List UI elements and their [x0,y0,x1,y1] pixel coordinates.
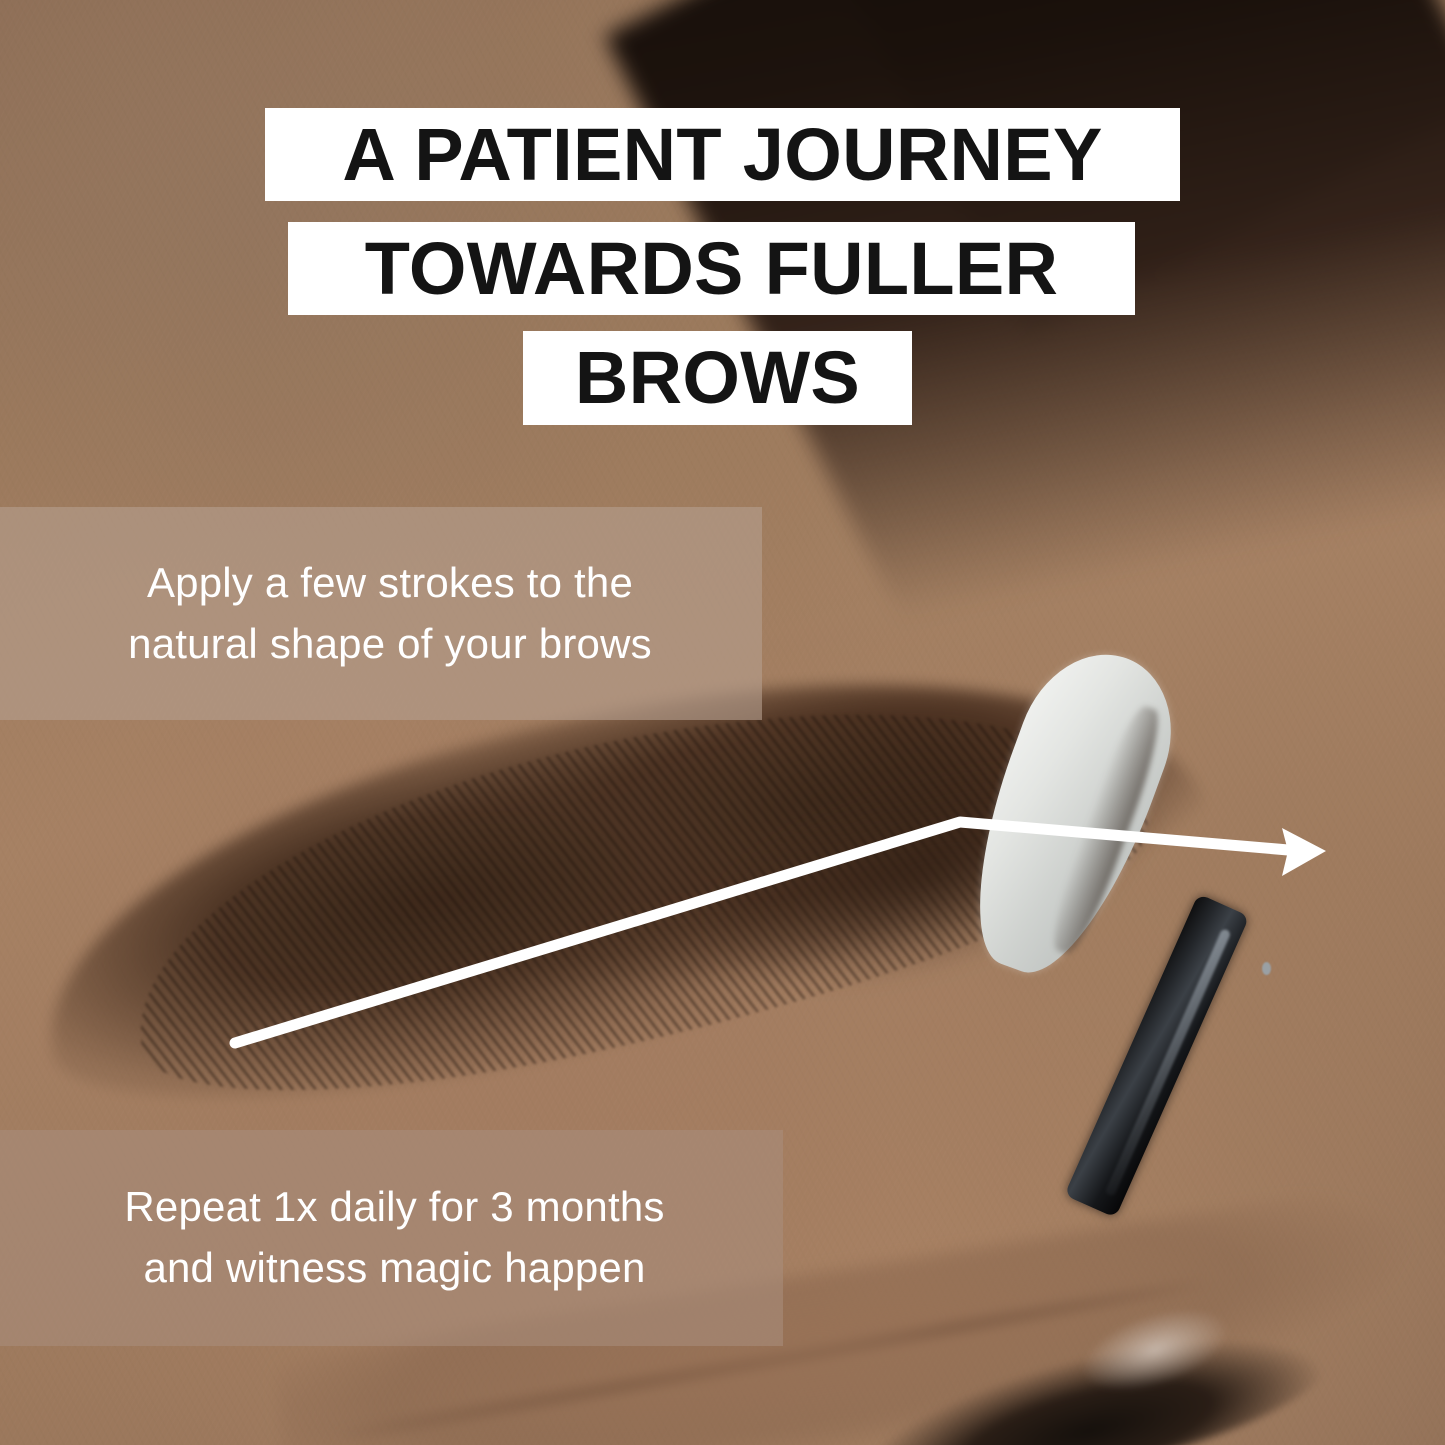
caption-bottom-line-2: and witness magic happen [0,1238,783,1299]
instruction-graphic: A PATIENT JOURNEY TOWARDS FULLER BROWS A… [0,0,1445,1445]
caption-panel-bottom: Repeat 1x daily for 3 months and witness… [0,1130,783,1346]
arrow-shaft [235,822,1300,1043]
headline-line-2: TOWARDS FULLER [288,222,1135,315]
arrow-head-icon [1282,828,1326,876]
caption-panel-top: Apply a few strokes to the natural shape… [0,507,762,720]
headline-line-1: A PATIENT JOURNEY [265,108,1180,201]
headline-line-3: BROWS [523,331,912,425]
caption-top-line-2: natural shape of your brows [0,614,762,675]
caption-bottom-line-1: Repeat 1x daily for 3 months [0,1177,783,1238]
direction-of-application-arrow [235,822,1326,1043]
caption-top-line-1: Apply a few strokes to the [0,553,762,614]
